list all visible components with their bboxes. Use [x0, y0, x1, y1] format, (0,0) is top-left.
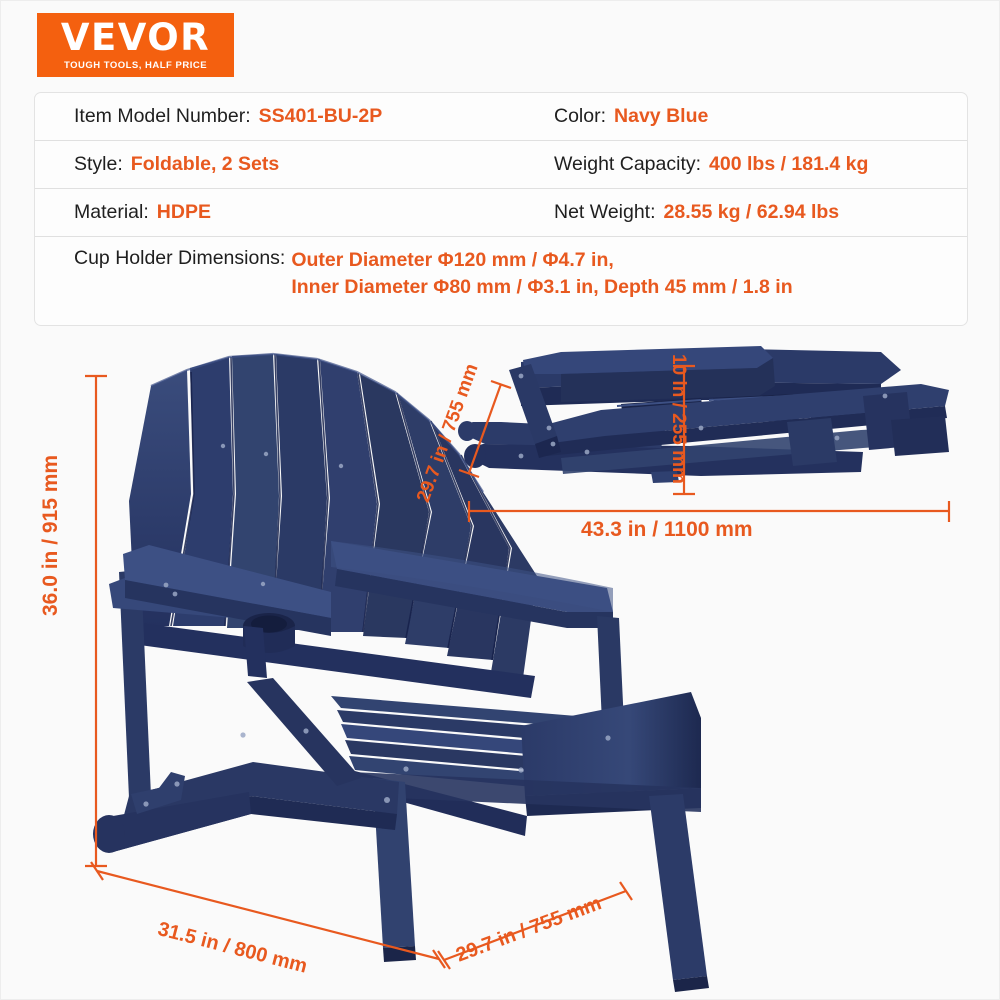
spec-value: HDPE [157, 201, 211, 224]
dimension-label-folded-length: 43.3 in / 1100 mm [581, 518, 753, 542]
table-row: Style: Foldable, 2 Sets Weight Capacity:… [35, 141, 967, 189]
chair-backrest [129, 354, 537, 678]
spec-value: Navy Blue [614, 105, 708, 128]
table-row: Item Model Number: SS401-BU-2P Color: Na… [35, 93, 967, 141]
spec-item-model-number: Item Model Number: SS401-BU-2P [74, 105, 554, 128]
spec-label: Color: [554, 105, 606, 128]
spec-value-cup-holder: Outer Diameter Φ120 mm / Φ4.7 in,Inner D… [291, 247, 792, 301]
spec-value: 400 lbs / 181.4 kg [709, 153, 868, 176]
spec-weight-capacity: Weight Capacity: 400 lbs / 181.4 kg [554, 153, 953, 176]
spec-net-weight: Net Weight: 28.55 kg / 62.94 lbs [554, 201, 953, 224]
vevor-logo: VEVOR TOUGH TOOLS, HALF PRICE [37, 13, 234, 77]
table-row: Material: HDPE Net Weight: 28.55 kg / 62… [35, 189, 967, 237]
dimension-label-folded-thickness: 10 in / 255 mm [667, 354, 689, 484]
table-row-cup-holder: Cup Holder Dimensions: Outer Diameter Φ1… [35, 237, 967, 301]
product-spec-page: VEVOR TOUGH TOOLS, HALF PRICE Item Model… [0, 0, 1000, 1000]
spec-label: Material: [74, 201, 149, 224]
spec-value: Foldable, 2 Sets [131, 153, 279, 176]
spec-label: Net Weight: [554, 201, 656, 224]
specification-table: Item Model Number: SS401-BU-2P Color: Na… [34, 92, 968, 326]
spec-label: Cup Holder Dimensions: [74, 247, 285, 270]
cup-holder-line-1: Outer Diameter Φ120 mm / Φ4.7 in, [291, 249, 613, 271]
logo-tagline: TOUGH TOOLS, HALF PRICE [64, 60, 207, 71]
spec-style: Style: Foldable, 2 Sets [74, 153, 554, 176]
chair-folded-illustration [458, 346, 961, 483]
spec-label: Weight Capacity: [554, 153, 701, 176]
dimension-label-chair-height: 36.0 in / 915 mm [39, 455, 63, 616]
spec-material: Material: HDPE [74, 201, 554, 224]
spec-label: Style: [74, 153, 123, 176]
cup-holder-line-2: Inner Diameter Φ80 mm / Φ3.1 in, Depth 4… [291, 276, 792, 298]
spec-color: Color: Navy Blue [554, 105, 953, 128]
spec-value: 28.55 kg / 62.94 lbs [664, 201, 840, 224]
spec-label: Item Model Number: [74, 105, 251, 128]
product-dimension-diagram: 36.0 in / 915 mm 31.5 in / 800 mm 29.7 i… [1, 326, 1000, 1000]
spec-value: SS401-BU-2P [259, 105, 383, 128]
logo-wordmark: VEVOR [61, 19, 210, 56]
